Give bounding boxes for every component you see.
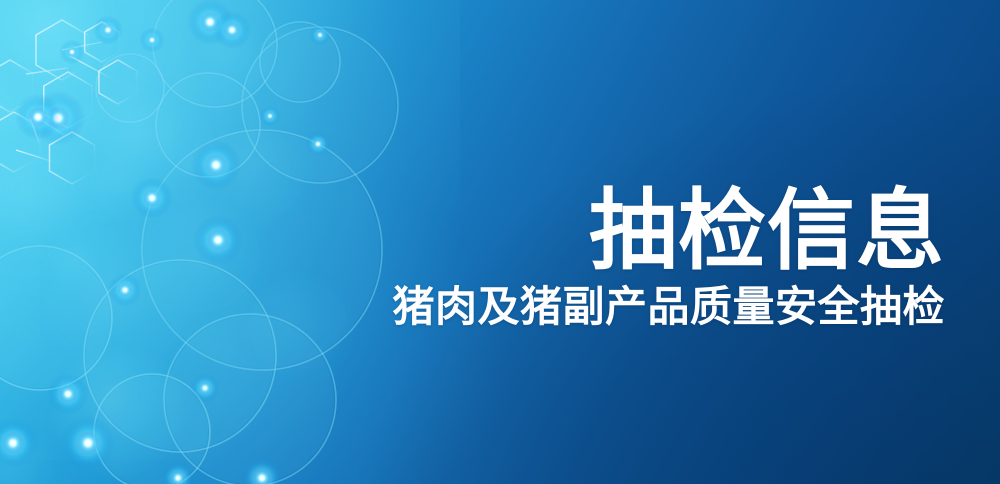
glow-dot-core xyxy=(106,28,110,32)
glow-dot-core xyxy=(316,142,319,145)
glow-dot-core xyxy=(149,195,154,200)
glow-dot-core xyxy=(10,440,16,446)
banner-text-block: 抽检信息 猪肉及猪副产品质量安全抽检 xyxy=(392,186,945,331)
glow-dot-core xyxy=(203,386,207,390)
glow-dot-core xyxy=(269,115,272,118)
glow-dot-core xyxy=(230,28,235,33)
glow-dot-core xyxy=(213,162,219,168)
glow-dot-core xyxy=(176,476,180,480)
glow-dot-core xyxy=(35,114,41,120)
glow-dot-core xyxy=(65,391,70,396)
banner-title: 抽检信息 xyxy=(392,186,945,276)
sampling-inspection-banner: 抽检信息 猪肉及猪副产品质量安全抽检 xyxy=(0,0,1000,484)
glow-dot-core xyxy=(123,288,127,292)
banner-subtitle: 猪肉及猪副产品质量安全抽检 xyxy=(392,282,945,332)
glow-dot-core xyxy=(150,38,153,41)
glow-dot-core xyxy=(85,440,92,447)
glow-dot-core xyxy=(259,475,264,480)
glow-dot-core xyxy=(207,19,213,25)
bubble-ring-fill xyxy=(166,316,334,484)
glow-dot-core xyxy=(319,34,322,37)
glow-dot-core xyxy=(70,50,73,53)
glow-dot-core xyxy=(215,237,221,243)
